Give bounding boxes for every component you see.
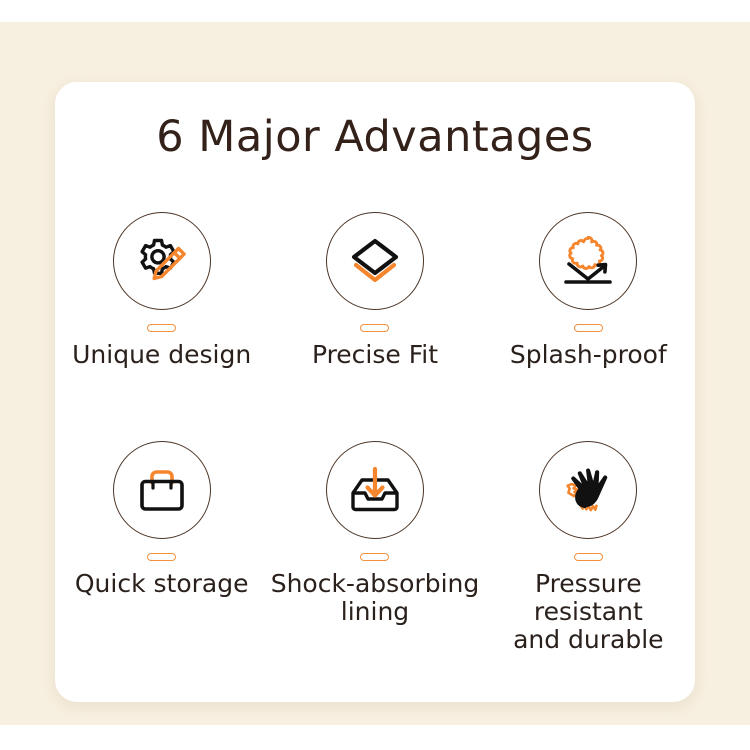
feature-item-precise-fit[interactable]: Precise Fit [268, 212, 481, 369]
feature-label: Precise Fit [312, 341, 438, 369]
splash-repel-icon [558, 232, 618, 290]
feature-label: Shock-absorbing lining [271, 570, 480, 626]
feature-label: Unique design [72, 341, 251, 369]
pill-divider [147, 324, 176, 332]
feature-item-unique-design[interactable]: Unique design [55, 212, 268, 369]
icon-circle-shock-absorbing-lining [326, 441, 424, 539]
pill-divider [574, 324, 603, 332]
icon-circle-pressure-resistant [539, 441, 637, 539]
gear-pencil-icon [133, 232, 191, 290]
hand-press-impact-icon [558, 461, 618, 519]
feature-item-quick-storage[interactable]: Quick storage [55, 441, 268, 654]
feature-row-1: Unique design Precise Fit [55, 212, 695, 369]
feature-item-pressure-resistant[interactable]: Pressure resistant and durable [482, 441, 695, 654]
pill-divider [574, 553, 603, 561]
feature-label: Pressure resistant and durable [482, 570, 695, 654]
feature-label: Quick storage [75, 570, 249, 598]
briefcase-bag-icon [133, 461, 191, 519]
icon-circle-precise-fit [326, 212, 424, 310]
page-background-panel: 6 Major Advantages [0, 22, 750, 725]
feature-grid: Unique design Precise Fit [55, 212, 695, 654]
icon-circle-quick-storage [113, 441, 211, 539]
inbox-down-arrow-icon [346, 461, 404, 519]
pill-divider [147, 553, 176, 561]
icon-circle-splash-proof [539, 212, 637, 310]
advantages-card: 6 Major Advantages [55, 82, 695, 702]
feature-row-2: Quick storage Shock-ab [55, 441, 695, 654]
diamond-chevron-icon [346, 232, 404, 290]
page-title: 6 Major Advantages [55, 112, 695, 162]
pill-divider [360, 553, 389, 561]
icon-circle-unique-design [113, 212, 211, 310]
feature-label: Splash-proof [510, 341, 667, 369]
pill-divider [360, 324, 389, 332]
feature-item-splash-proof[interactable]: Splash-proof [482, 212, 695, 369]
feature-item-shock-absorbing-lining[interactable]: Shock-absorbing lining [268, 441, 481, 654]
